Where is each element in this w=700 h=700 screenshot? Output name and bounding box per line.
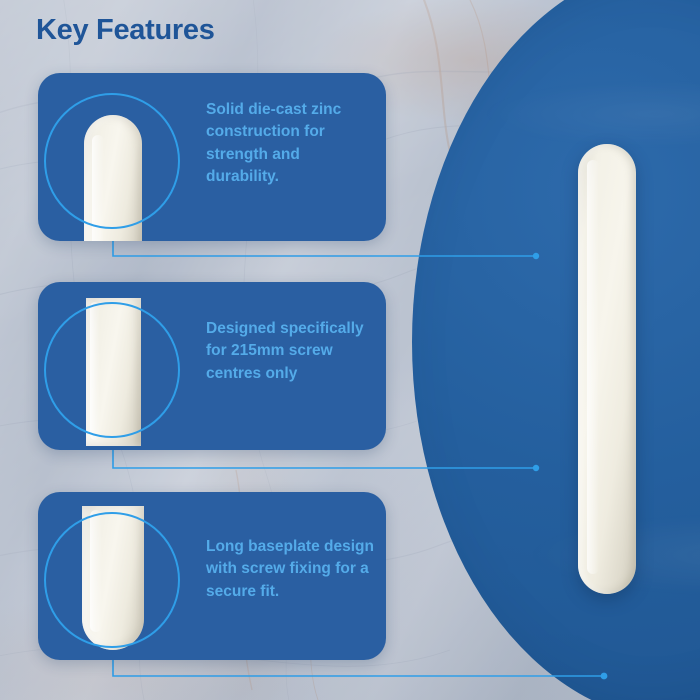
feature-card-3[interactable]: Long baseplate design with screw fixing … [38, 492, 386, 660]
feature-text-3: Long baseplate design with screw fixing … [206, 536, 374, 603]
feature-card-1[interactable]: Solid die-cast zinc construction for str… [38, 73, 386, 241]
feature-text-1: Solid die-cast zinc construction for str… [206, 99, 374, 188]
feature-card-2[interactable]: Designed specifically for 215mm screw ce… [38, 282, 386, 450]
feature-text-2: Designed specifically for 215mm screw ce… [206, 318, 374, 385]
zoom-ring-icon [44, 302, 180, 438]
hero-product-handle [578, 144, 636, 594]
infographic-stage: Key Features Solid die-cast zinc constru… [0, 0, 700, 700]
page-title: Key Features [36, 14, 215, 47]
zoom-ring-icon [44, 512, 180, 648]
zoom-ring-icon [44, 93, 180, 229]
